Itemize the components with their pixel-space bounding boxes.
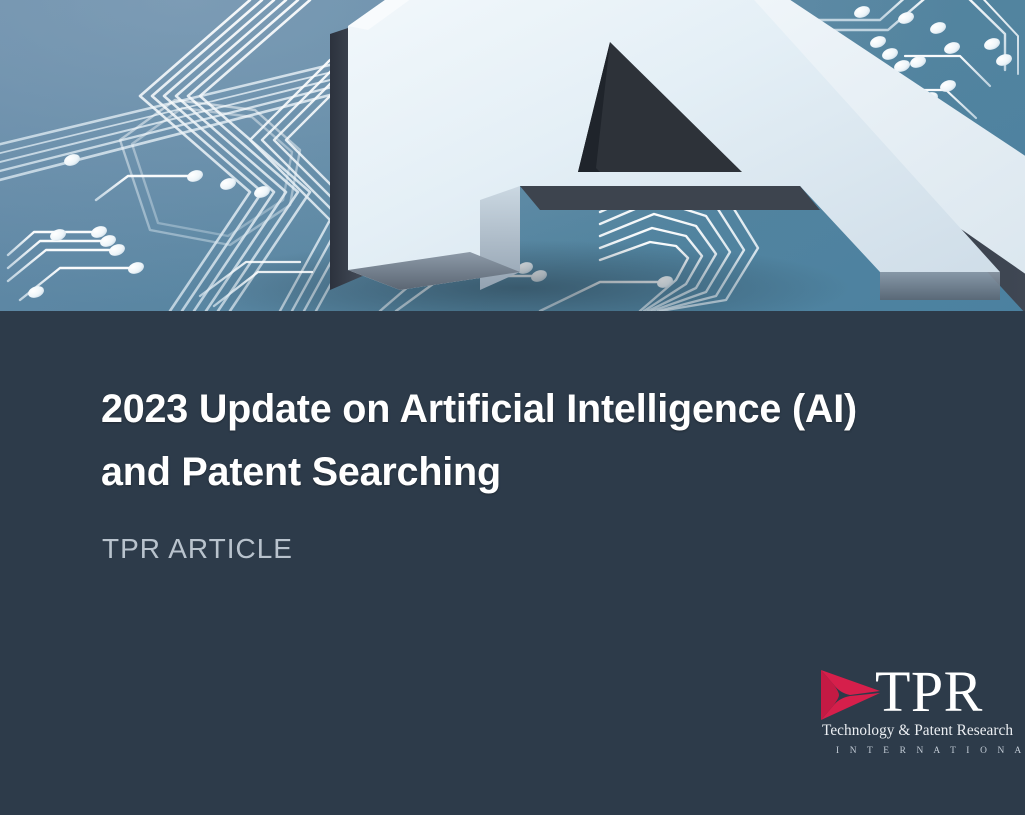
logo-wordmark: TPR	[875, 663, 983, 721]
logo-tagline: Technology & Patent Research	[822, 722, 1013, 740]
hero-image	[0, 0, 1025, 311]
ai-circuit-board-illustration	[0, 0, 1025, 311]
page-title: 2023 Update on Artificial Intelligence (…	[101, 378, 901, 504]
trace-group-left-rings	[120, 100, 300, 245]
ai-3d-letters	[190, 0, 1025, 311]
logo-division-label: I N T E R N A T I O N A L™	[836, 742, 1025, 757]
logo-division-text: I N T E R N A T I O N A L	[836, 746, 1025, 756]
tpr-international-logo[interactable]: TPR Technology & Patent Research I N T E…	[820, 666, 980, 762]
article-cover-page: 2023 Update on Artificial Intelligence (…	[0, 0, 1025, 815]
delta-arrow-icon	[820, 669, 882, 721]
article-kicker: TPR ARTICLE	[102, 532, 293, 566]
logo-top-row: TPR	[820, 666, 980, 724]
